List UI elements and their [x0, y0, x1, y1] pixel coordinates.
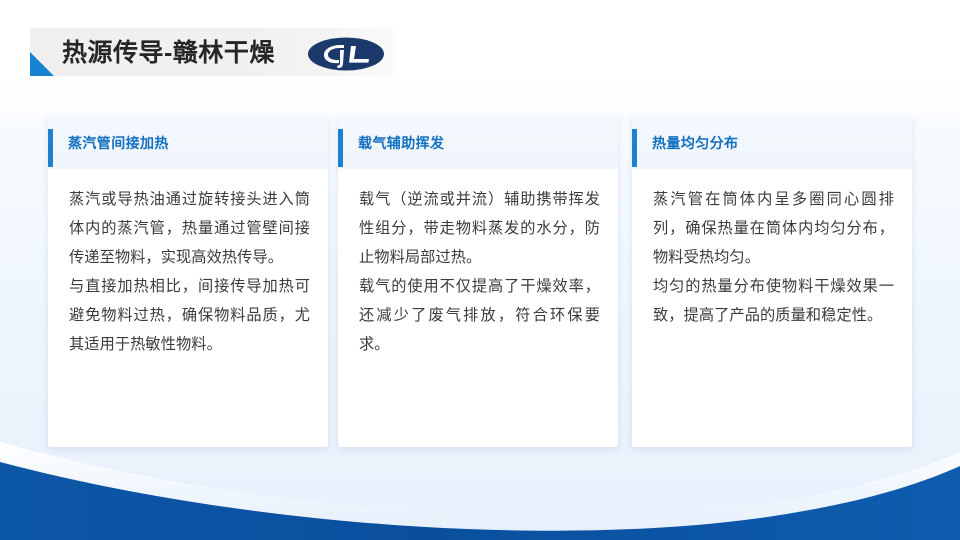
card-header: 热量均匀分布: [632, 117, 912, 169]
page-title: 热源传导-赣林干燥: [62, 36, 275, 70]
card-paragraph: 载气的使用不仅提高了干燥效率，还减少了废气排放，符合环保要求。: [359, 272, 600, 359]
feature-card: 载气辅助挥发 载气（逆流或并流）辅助携带挥发性组分，带走物料蒸发的水分，防止物料…: [338, 117, 618, 447]
card-body: 蒸汽或导热油通过旋转接头进入筒体内的蒸汽管，热量通过管壁间接传递至物料，实现高效…: [48, 169, 328, 359]
card-paragraph: 均匀的热量分布使物料干燥效果一致，提高了产品的质量和稳定性。: [653, 272, 894, 330]
card-paragraph: 与直接加热相比，间接传导加热可避免物料过热，确保物料品质，尤其适用于热敏性物料。: [69, 272, 310, 359]
card-title: 蒸汽管间接加热: [68, 133, 169, 153]
feature-card: 蒸汽管间接加热 蒸汽或导热油通过旋转接头进入筒体内的蒸汽管，热量通过管壁间接传递…: [48, 117, 328, 447]
card-paragraph: 蒸汽或导热油通过旋转接头进入筒体内的蒸汽管，热量通过管壁间接传递至物料，实现高效…: [69, 185, 310, 272]
card-paragraph: 载气（逆流或并流）辅助携带挥发性组分，带走物料蒸发的水分，防止物料局部过热。: [359, 185, 600, 272]
card-paragraph: 蒸汽管在筒体内呈多圈同心圆排列，确保热量在筒体内均匀分布，物料受热均匀。: [653, 185, 894, 272]
card-header: 蒸汽管间接加热: [48, 117, 328, 169]
card-header: 载气辅助挥发: [338, 117, 618, 169]
card-accent-bar: [48, 129, 53, 167]
feature-card: 热量均匀分布 蒸汽管在筒体内呈多圈同心圆排列，确保热量在筒体内均匀分布，物料受热…: [632, 117, 912, 447]
card-title: 热量均匀分布: [652, 133, 738, 153]
slide-canvas: 热源传导-赣林干燥 蒸汽管间接加热 蒸汽或导热油通过旋转接头进入筒体内的蒸汽管，…: [0, 0, 960, 540]
card-body: 载气（逆流或并流）辅助携带挥发性组分，带走物料蒸发的水分，防止物料局部过热。 载…: [338, 169, 618, 359]
ganlin-gl-logo: [307, 36, 385, 72]
card-accent-bar: [338, 129, 343, 167]
card-title: 载气辅助挥发: [358, 133, 444, 153]
card-body: 蒸汽管在筒体内呈多圈同心圆排列，确保热量在筒体内均匀分布，物料受热均匀。 均匀的…: [632, 169, 912, 330]
card-accent-bar: [632, 129, 637, 167]
